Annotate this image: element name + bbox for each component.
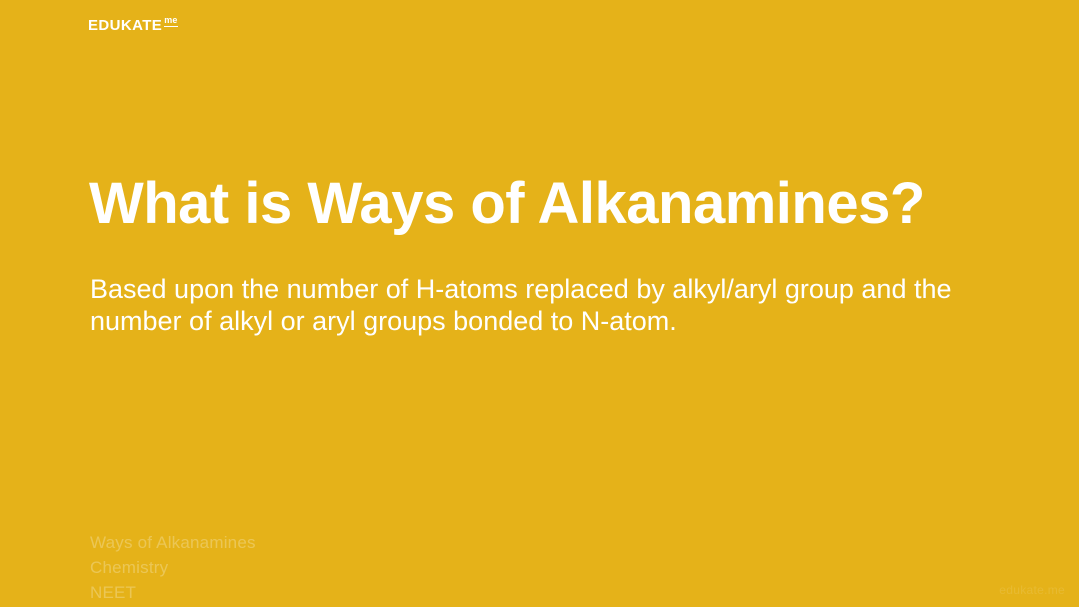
brand-logo-superscript: me [164,16,177,27]
slide-body-text: Based upon the number of H-atoms replace… [90,273,1000,337]
brand-logo-word: EDUKATE [88,17,162,34]
slide-title: What is Ways of Alkanamines? [89,169,1019,239]
slide-canvas: EDUKATE me What is Ways of Alkanamines? … [0,0,1079,607]
footer-topic: Ways of Alkanamines [90,530,490,555]
footer-subject: Chemistry [90,555,490,580]
watermark-text: edukate.me [999,583,1065,597]
slide-footer-meta: Ways of Alkanamines Chemistry NEET [90,530,490,605]
brand-logo[interactable]: EDUKATE me [88,17,178,34]
footer-exam: NEET [90,580,490,605]
